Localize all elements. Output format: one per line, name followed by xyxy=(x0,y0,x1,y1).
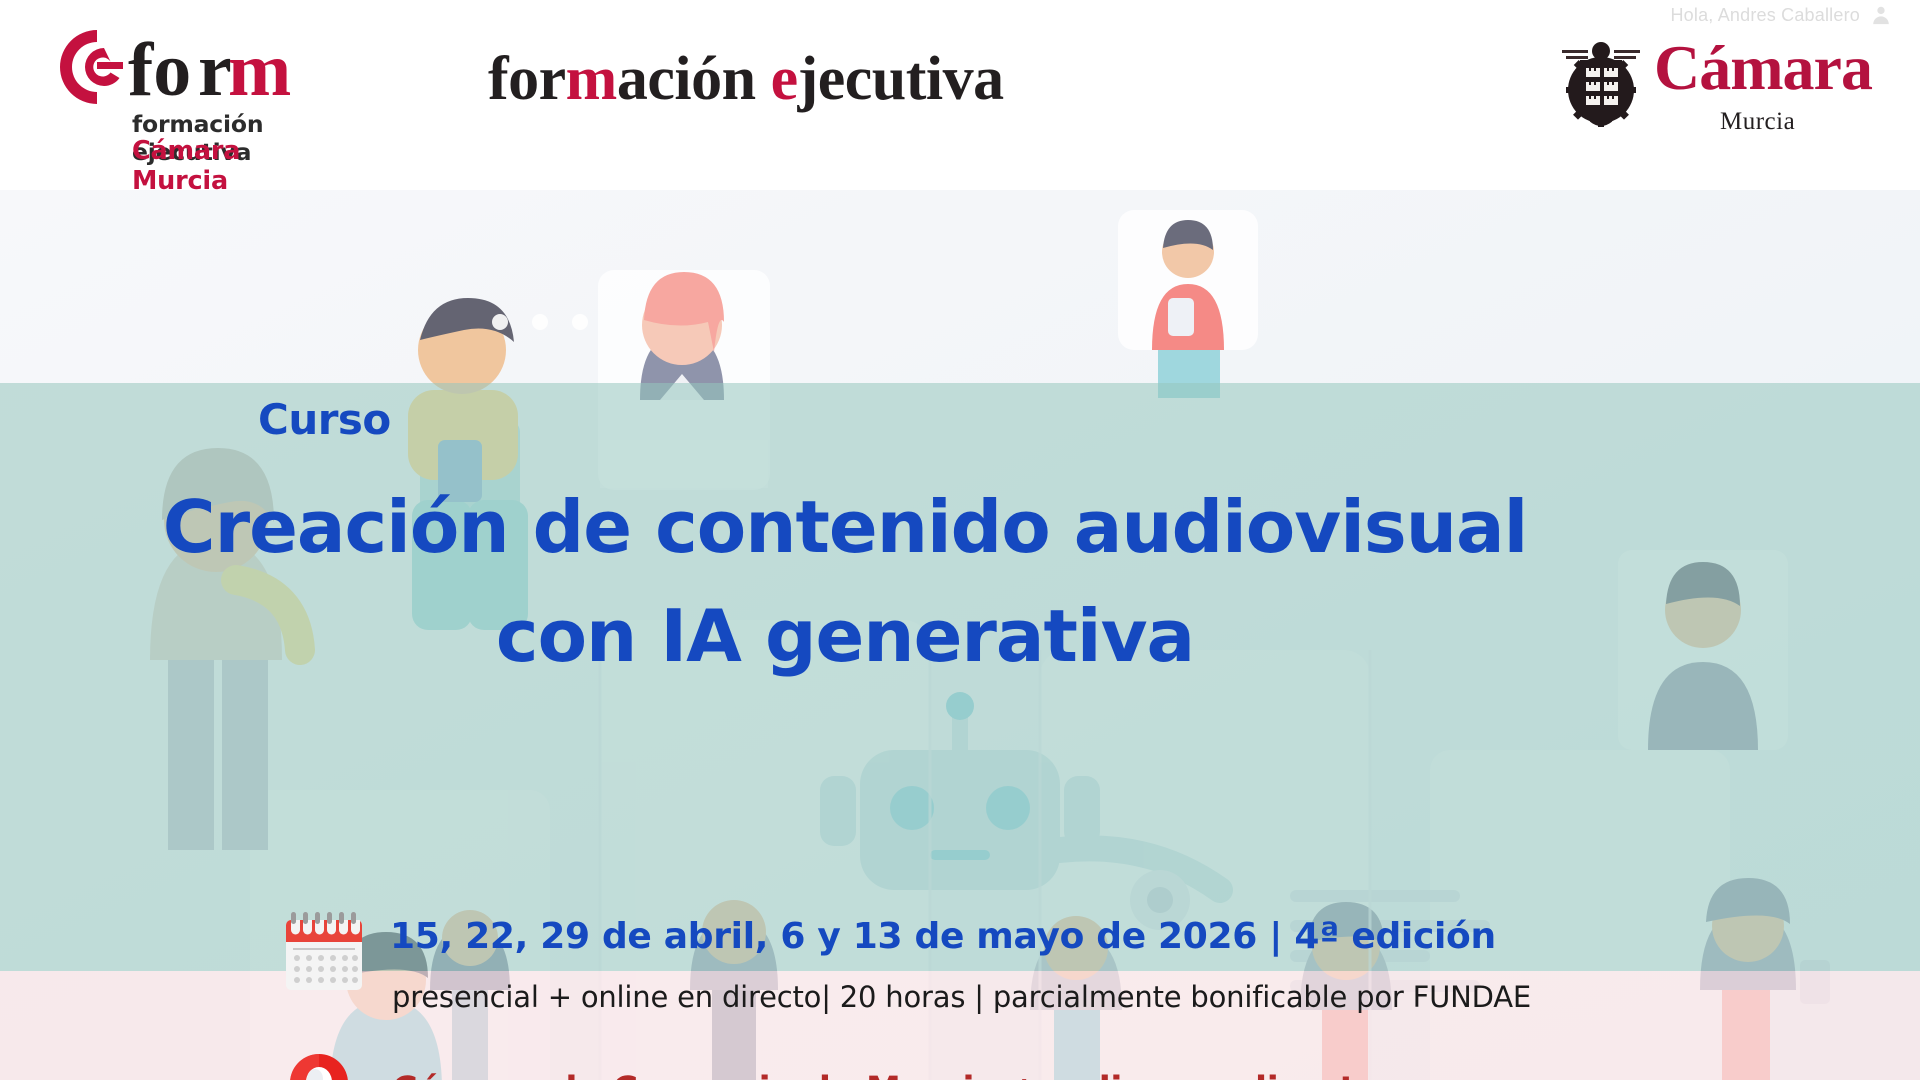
ceform-wordmark-icon: fo r m xyxy=(40,24,330,110)
course-details: presencial + online en directo| 20 horas… xyxy=(392,980,1531,1014)
calendar-icon xyxy=(283,908,365,993)
page-title: Creación de contenido audiovisual con IA… xyxy=(0,473,1690,692)
course-location: Cámara de Comercio de Murcia + online en… xyxy=(392,1070,1379,1080)
ceform-logo[interactable]: fo r m formación ejecutiva Cámara Murcia xyxy=(40,24,330,164)
page-root: Hola, Andres Caballero fo r m formación … xyxy=(0,0,1920,1080)
site-header: Hola, Andres Caballero fo r m formación … xyxy=(0,0,1920,190)
course-dates: 15, 22, 29 de abril, 6 y 13 de mayo de 2… xyxy=(390,916,1496,957)
hero-content: Curso Creación de contenido audiovisual … xyxy=(0,190,1920,1080)
svg-text:fo: fo xyxy=(128,28,191,110)
camara-logo-name: Cámara xyxy=(1654,36,1872,100)
wordmark-part-2: m xyxy=(566,45,617,113)
hero-banner: Curso Creación de contenido audiovisual … xyxy=(0,190,1920,1080)
murcia-coat-of-arms-icon xyxy=(1558,32,1644,128)
svg-text:m: m xyxy=(228,28,291,110)
user-greeting[interactable]: Hola, Andres Caballero xyxy=(1670,4,1892,26)
wordmark-part-5: jecutiva xyxy=(798,45,1004,113)
map-pin-icon xyxy=(288,1052,350,1080)
formacion-ejecutiva-wordmark: formación ejecutiva xyxy=(488,44,1004,115)
page-title-line-2: con IA generativa xyxy=(496,594,1194,678)
wordmark-part-4: e xyxy=(771,45,798,113)
user-avatar-icon[interactable] xyxy=(1870,4,1892,26)
wordmark-part-1: for xyxy=(488,45,566,113)
wordmark-part-3: ación xyxy=(617,45,771,113)
course-kicker: Curso xyxy=(258,395,391,444)
svg-text:r: r xyxy=(198,28,232,110)
ceform-tagline-2: Cámara Murcia xyxy=(132,136,330,196)
camara-murcia-logo[interactable]: Cámara Murcia xyxy=(1558,28,1898,140)
page-title-line-1: Creación de contenido audiovisual xyxy=(163,485,1528,569)
camara-logo-city: Murcia xyxy=(1720,108,1795,136)
greeting-text: Hola, Andres Caballero xyxy=(1670,5,1860,26)
